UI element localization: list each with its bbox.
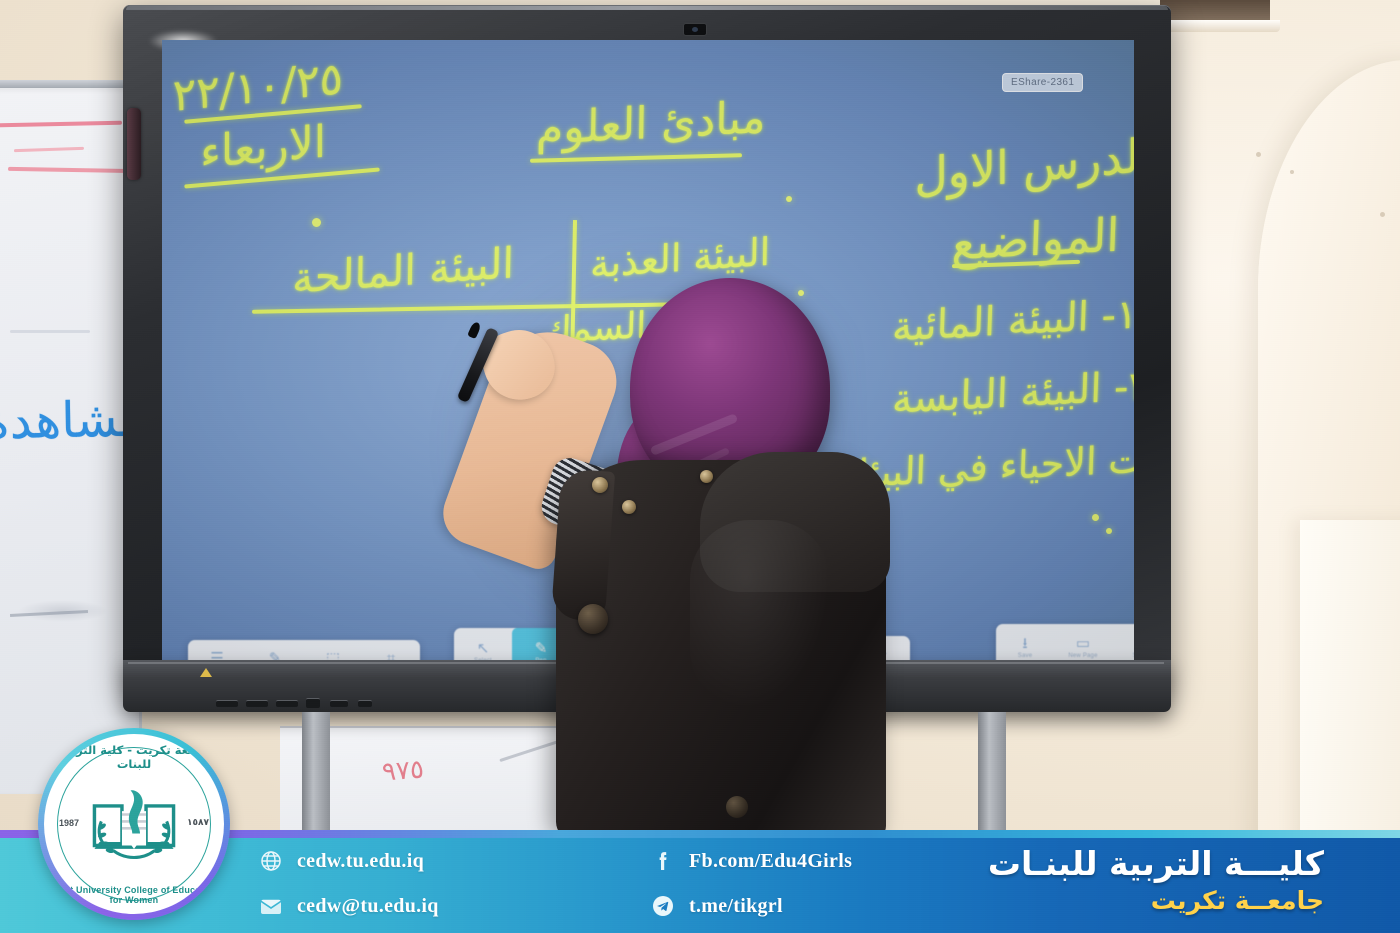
teacher-coat-lapel bbox=[551, 468, 615, 621]
ink-dot bbox=[1106, 528, 1112, 534]
contact-telegram-text: t.me/tikgrl bbox=[689, 895, 783, 918]
smartboard-port bbox=[276, 700, 298, 707]
contact-website[interactable]: cedw.tu.edu.iq bbox=[258, 848, 424, 874]
smartboard-port bbox=[246, 700, 268, 707]
smartboard-port bbox=[306, 698, 320, 708]
contact-website-text: cedw.tu.edu.iq bbox=[297, 850, 424, 873]
eshare-badge: EShare-2361 bbox=[1002, 73, 1083, 92]
ink-dot bbox=[1092, 514, 1099, 521]
contact-email-text: cedw@tu.edu.iq bbox=[297, 895, 439, 918]
save-icon: ⭳ bbox=[1022, 636, 1027, 651]
brand-university-name: جامعــة تكريت bbox=[988, 886, 1324, 916]
toolbar-item-label: Save bbox=[1018, 653, 1032, 659]
smartboard-port bbox=[358, 700, 372, 707]
ink-dot bbox=[798, 290, 804, 296]
smartboard-toolbar-right[interactable]: ⭳Save▭New Page➦Share✕Exit bbox=[996, 624, 1134, 665]
wall-speck bbox=[1380, 212, 1385, 217]
contact-telegram[interactable]: t.me/tikgrl bbox=[650, 893, 783, 919]
logo-emblem-icon bbox=[82, 777, 186, 868]
teacher-coat-highlight bbox=[690, 520, 830, 710]
brand-college-name: كليـــة التربية للبنـات bbox=[988, 846, 1324, 883]
coat-button-large bbox=[726, 796, 748, 818]
pen-icon: ✎ bbox=[535, 641, 548, 656]
smartboard-frame-highlight bbox=[126, 6, 1168, 10]
toolbar-item-share[interactable]: ➦Share bbox=[1112, 624, 1134, 665]
wall-speck bbox=[1290, 170, 1294, 174]
smartboard-port bbox=[216, 700, 238, 707]
page-icon: ▭ bbox=[1076, 636, 1090, 651]
contact-facebook-text: Fb.com/Edu4Girls bbox=[689, 850, 852, 873]
ceiling-trim bbox=[1160, 20, 1280, 32]
toolbar-item-new-page[interactable]: ▭New Page bbox=[1054, 624, 1112, 665]
facebook-icon bbox=[650, 848, 676, 874]
whiteboard-red-scrawl: ٩٧٥ bbox=[381, 755, 425, 788]
envelope-icon bbox=[258, 893, 284, 919]
smartboard-camera-lens bbox=[692, 27, 698, 32]
handwriting-lesson: الدرس الاول bbox=[914, 127, 1134, 202]
telegram-icon bbox=[650, 893, 676, 919]
toolbar-item-save[interactable]: ⭳Save bbox=[996, 624, 1054, 665]
handwriting-topic-2: ٢- البيئة اليابسة bbox=[891, 363, 1134, 423]
globe-icon bbox=[258, 848, 284, 874]
smartboard-stand-right bbox=[978, 712, 1006, 840]
ink-dot bbox=[312, 218, 321, 227]
smartboard-indicator-icon bbox=[200, 668, 212, 677]
smartboard-side-button[interactable] bbox=[127, 108, 141, 180]
logo-year-gregorian: 1987 bbox=[59, 818, 79, 828]
smartboard-port bbox=[330, 700, 348, 707]
coat-button-large bbox=[578, 604, 608, 634]
coat-button bbox=[592, 477, 608, 493]
whiteboard-faint-mark bbox=[10, 330, 90, 333]
smartboard-stand-left bbox=[302, 712, 330, 840]
ink-dot bbox=[786, 196, 792, 202]
handwriting-title: مبادئ العلوم bbox=[536, 92, 766, 155]
cursor-icon: ↖ bbox=[477, 641, 490, 656]
handwriting-topic-1: ١- البيئة المائية bbox=[891, 291, 1134, 350]
footer-brand: كليـــة التربية للبنـات جامعــة تكريت bbox=[988, 846, 1324, 916]
contact-facebook[interactable]: Fb.com/Edu4Girls bbox=[650, 848, 852, 874]
college-logo: جامعة تكريت - كلية التربية للبنات Tikrit… bbox=[38, 728, 230, 920]
logo-disc: جامعة تكريت - كلية التربية للبنات Tikrit… bbox=[44, 734, 224, 914]
underline-title bbox=[530, 153, 742, 163]
toolbar-item-label: Share bbox=[1132, 653, 1134, 659]
toolbar-item-label: New Page bbox=[1068, 653, 1097, 659]
coat-button bbox=[700, 470, 713, 483]
logo-arabic-text: جامعة تكريت - كلية التربية للبنات bbox=[44, 743, 224, 771]
coat-button bbox=[622, 500, 636, 514]
logo-english-text: Tikrit University College of Education f… bbox=[44, 885, 224, 905]
screenshot-root: مشاهدة ٩٧٥ ٢٢/١٠/٢٥ الاربعاء مبادئ العلو… bbox=[0, 0, 1400, 933]
handwriting-day: الاربعاء bbox=[200, 116, 326, 178]
contact-email[interactable]: cedw@tu.edu.iq bbox=[258, 893, 439, 919]
wall-speck bbox=[1256, 152, 1261, 157]
logo-year-hijri: ١٥٨٧ bbox=[187, 818, 209, 828]
